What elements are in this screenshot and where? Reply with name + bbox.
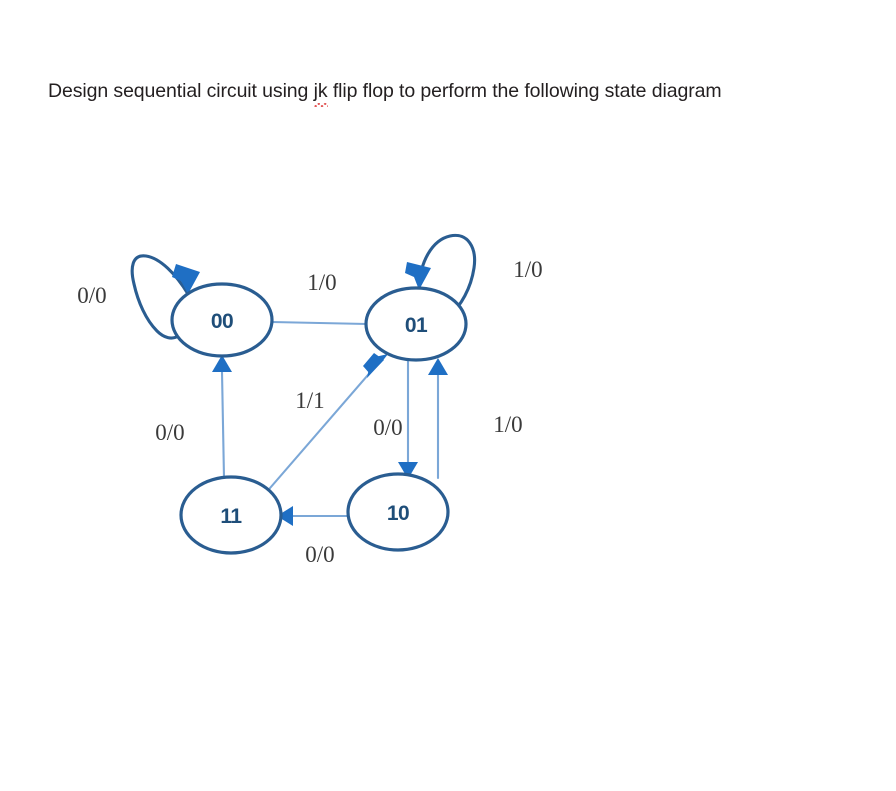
edge-label-00-to-01: 1/0 xyxy=(307,270,336,295)
transition-11-to-00 xyxy=(212,355,232,478)
state-node-00-label: 00 xyxy=(211,310,233,333)
state-node-00[interactable]: 00 xyxy=(172,284,272,356)
state-node-01[interactable]: 01 xyxy=(366,288,466,360)
state-node-11-label: 11 xyxy=(220,505,242,528)
transition-10-to-11 xyxy=(277,506,348,526)
edge-label-11-to-00: 0/0 xyxy=(155,420,184,445)
transition-10-to-01 xyxy=(428,358,448,478)
state-node-01-label: 01 xyxy=(405,314,428,337)
edge-label-10-to-11: 0/0 xyxy=(305,542,334,567)
transition-11-to-01 xyxy=(264,353,388,495)
state-node-10-label: 10 xyxy=(387,502,409,525)
edge-label-00-self: 0/0 xyxy=(77,283,106,308)
state-node-10[interactable]: 10 xyxy=(348,474,448,550)
edge-label-01-to-10: 0/0 xyxy=(373,415,402,440)
state-node-11[interactable]: 11 xyxy=(181,477,281,553)
state-diagram: 00 01 11 10 0/0 1/0 1/0 0/0 1/0 0/0 0/0 xyxy=(0,0,896,791)
page-canvas: Design sequential circuit using jk flip … xyxy=(0,0,896,791)
edge-label-10-to-01: 1/0 xyxy=(493,412,522,437)
edge-label-01-self: 1/0 xyxy=(513,257,542,282)
edge-label-11-to-01: 1/1 xyxy=(295,388,324,413)
